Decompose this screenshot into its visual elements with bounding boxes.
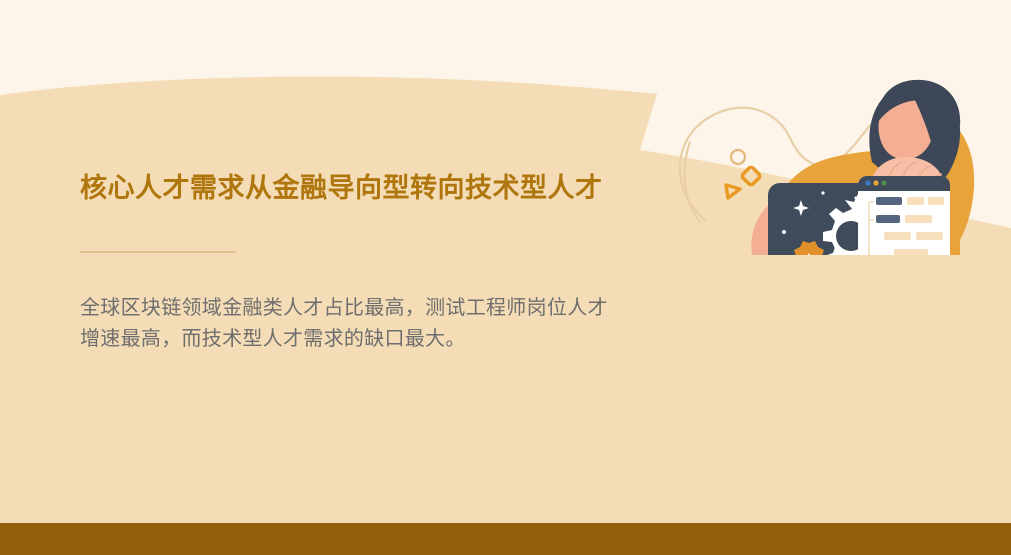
body-paragraph: 全球区块链领域金融类人才占比最高，测试工程师岗位人才增速最高，而技术型人才需求的…: [80, 293, 610, 355]
slide-canvas: 核心人才需求从金融导向型转向技术型人才 全球区块链领域金融类人才占比最高，测试工…: [0, 0, 1011, 555]
page-title: 核心人才需求从金融导向型转向技术型人才: [80, 172, 680, 206]
title-divider: [80, 251, 236, 253]
slide-content: 核心人才需求从金融导向型转向技术型人才 全球区块链领域金融类人才占比最高，测试工…: [0, 0, 1011, 555]
bottom-accent-bar: [0, 523, 1011, 555]
